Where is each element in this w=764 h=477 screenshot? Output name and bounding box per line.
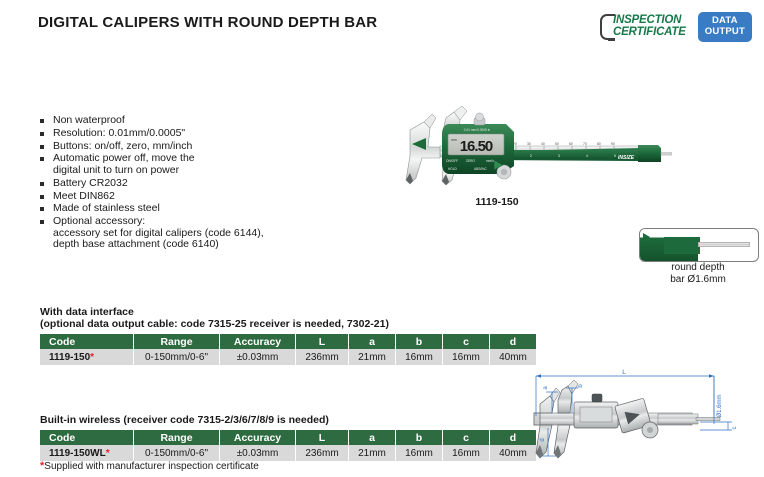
section1-heading: With data interface (optional data outpu… <box>40 306 389 330</box>
section2-heading: Built-in wireless (receiver code 7315-2/… <box>40 414 329 426</box>
feature-text: Non waterproof <box>53 114 125 126</box>
bullet-square-icon <box>40 195 44 199</box>
svg-text:HOLD: HOLD <box>448 167 458 171</box>
cell-c: 16mm <box>443 445 490 461</box>
data-output-line2: OUTPUT <box>705 27 745 38</box>
inspection-certificate-badge: INSPECTION CERTIFICATE <box>600 12 686 42</box>
dimension-label-a: a <box>543 386 549 390</box>
svg-text:40: 40 <box>541 142 545 146</box>
cell-d: 40mm <box>490 349 537 365</box>
catalog-page: DIGITAL CALIPERS WITH ROUND DEPTH BAR IN… <box>0 0 764 477</box>
depth-bar-green-block <box>664 237 700 254</box>
list-item: Optional accessory:accessory set for dig… <box>40 216 340 251</box>
svg-text:70: 70 <box>583 142 587 146</box>
col-header-range: Range <box>134 430 220 445</box>
list-item: Non waterproof <box>40 115 340 127</box>
svg-text:INSIZE: INSIZE <box>618 155 635 161</box>
col-header-b: b <box>396 430 443 445</box>
col-header-range: Range <box>134 334 220 349</box>
bracket-icon <box>600 14 613 40</box>
spec-table-builtin-wireless: Code Range Accuracy L a b c d 1119-150WL… <box>40 430 536 461</box>
dimension-label-diameter: Ø1.6mm <box>717 394 723 417</box>
svg-text:50: 50 <box>555 142 559 146</box>
svg-text:60: 60 <box>569 142 573 146</box>
bullet-square-icon <box>40 207 44 211</box>
technical-drawing-caliper: L Ø1.6mm c a b d <box>500 366 764 466</box>
cell-accuracy: ±0.03mm <box>220 349 296 365</box>
round-depth-bar-inset-image <box>639 228 759 262</box>
svg-text:90: 90 <box>611 142 615 146</box>
svg-text:ON/OFF: ON/OFF <box>446 159 458 163</box>
svg-text:5: 5 <box>614 154 616 158</box>
svg-text:mm: mm <box>451 138 457 142</box>
cell-b: 16mm <box>396 349 443 365</box>
cell-l: 236mm <box>296 349 349 365</box>
cell-accuracy: ±0.03mm <box>220 445 296 461</box>
depth-bar-rod <box>698 242 750 247</box>
svg-text:ZERO: ZERO <box>466 159 475 163</box>
feature-text: Buttons: on/off, zero, mm/inch <box>53 140 192 152</box>
cell-c: 16mm <box>443 349 490 365</box>
cell-range: 0-150mm/0-6" <box>134 445 220 461</box>
list-item: Automatic power off, move thedigital uni… <box>40 153 340 176</box>
page-title: DIGITAL CALIPERS WITH ROUND DEPTH BAR <box>38 14 377 31</box>
col-header-l: L <box>296 430 349 445</box>
feature-text: Resolution: 0.01mm/0.0005" <box>53 127 185 139</box>
list-item: Made of stainless steel <box>40 203 340 215</box>
feature-list: Non waterproof Resolution: 0.01mm/0.0005… <box>40 115 340 252</box>
asterisk-marker: * <box>90 352 94 363</box>
svg-text:30: 30 <box>527 142 531 146</box>
caliper-illustration: 102030 405060 708090 123 45 INSIZE <box>382 100 672 205</box>
table-row: 1119-150* 0-150mm/0-6" ±0.03mm 236mm 21m… <box>40 349 536 365</box>
col-header-a: a <box>349 334 396 349</box>
col-header-l: L <box>296 334 349 349</box>
list-item: Resolution: 0.01mm/0.0005" <box>40 128 340 140</box>
feature-text: Made of stainless steel <box>53 202 160 214</box>
feature-subtext-2: depth base attachment (code 6140) <box>53 239 340 251</box>
list-item: Buttons: on/off, zero, mm/inch <box>40 141 340 153</box>
feature-text: Automatic power off, move the <box>53 152 195 164</box>
cell-a: 21mm <box>349 445 396 461</box>
svg-text:80: 80 <box>597 142 601 146</box>
col-header-accuracy: Accuracy <box>220 334 296 349</box>
caption-line1: round depth <box>629 262 764 274</box>
bullet-square-icon <box>40 145 44 149</box>
product-photo-caliper: 102030 405060 708090 123 45 INSIZE <box>382 100 672 205</box>
svg-text:2: 2 <box>530 154 532 158</box>
cell-b: 16mm <box>396 445 443 461</box>
svg-text:16.50: 16.50 <box>460 138 493 155</box>
cell-range: 0-150mm/0-6" <box>134 349 220 365</box>
col-header-a: a <box>349 430 396 445</box>
feature-subtext: digital unit to turn on power <box>53 165 340 177</box>
inspection-certificate-line2: CERTIFICATE <box>613 27 686 39</box>
section1-heading-line1: With data interface <box>40 306 389 318</box>
table-row: 1119-150WL* 0-150mm/0-6" ±0.03mm 236mm 2… <box>40 445 536 461</box>
col-header-c: c <box>443 430 490 445</box>
col-header-code: Code <box>40 334 134 349</box>
col-header-b: b <box>396 334 443 349</box>
bullet-square-icon <box>40 132 44 136</box>
footnote: *Supplied with manufacturer inspection c… <box>40 461 259 472</box>
cell-code: 1119-150* <box>40 349 134 365</box>
cell-code-text: 1119-150WL <box>49 448 106 459</box>
spec-table-data-interface: Code Range Accuracy L a b c d 1119-150* … <box>40 334 536 365</box>
dimension-label-b: b <box>578 384 584 388</box>
section2-heading-line1: Built-in wireless (receiver code 7315-2/… <box>40 414 329 426</box>
list-item: Battery CR2032 <box>40 178 340 190</box>
data-output-badge: DATA OUTPUT <box>698 12 752 41</box>
feature-text: Optional accessory: <box>53 215 145 227</box>
svg-text:3: 3 <box>558 154 560 158</box>
col-header-d: d <box>490 334 537 349</box>
caliper-dimension-diagram: L Ø1.6mm c a b d <box>500 366 764 466</box>
bullet-square-icon <box>40 182 44 186</box>
table-header-row: Code Range Accuracy L a b c d <box>40 430 536 445</box>
dimension-label-c: c <box>732 427 738 430</box>
bullet-square-icon <box>40 119 44 123</box>
footnote-text: Supplied with manufacturer inspection ce… <box>44 461 259 472</box>
bullet-square-icon <box>40 220 44 224</box>
feature-text: Meet DIN862 <box>53 190 115 202</box>
caption-line2: bar Ø1.6mm <box>629 274 764 286</box>
col-header-accuracy: Accuracy <box>220 430 296 445</box>
list-item: Meet DIN862 <box>40 191 340 203</box>
product-code-label: 1119-150 <box>382 196 612 208</box>
cell-a: 21mm <box>349 349 396 365</box>
cell-l: 236mm <box>296 445 349 461</box>
asterisk-marker: * <box>106 448 110 459</box>
col-header-code: Code <box>40 430 134 445</box>
badge-group: INSPECTION CERTIFICATE DATA OUTPUT <box>600 12 752 42</box>
svg-text:4: 4 <box>586 154 588 158</box>
svg-text:0.01 mm/0.0005 in: 0.01 mm/0.0005 in <box>464 128 491 132</box>
section1-heading-line2: (optional data output cable: code 7315-2… <box>40 318 389 330</box>
svg-text:mm/in: mm/in <box>486 159 495 163</box>
cell-code-text: 1119-150 <box>49 352 90 363</box>
bullet-square-icon <box>40 157 44 161</box>
feature-text: Battery CR2032 <box>53 177 128 189</box>
svg-text:ABS/INC: ABS/INC <box>474 167 487 171</box>
col-header-c: c <box>443 334 490 349</box>
round-depth-bar-caption: round depth bar Ø1.6mm <box>629 262 764 285</box>
dimension-label-L: L <box>622 369 626 376</box>
cell-code: 1119-150WL* <box>40 445 134 461</box>
dimension-label-d: d <box>540 438 546 441</box>
table-header-row: Code Range Accuracy L a b c d <box>40 334 536 349</box>
